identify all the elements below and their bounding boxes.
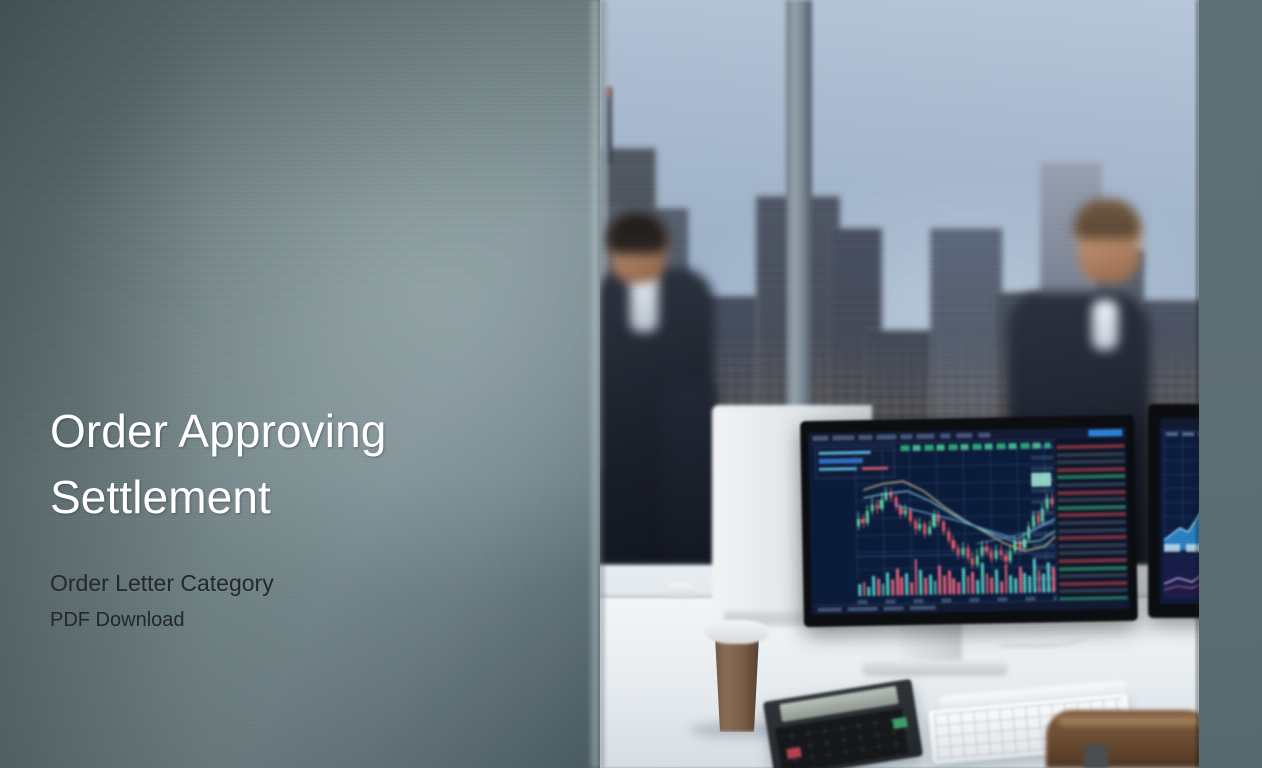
order-book-row: [1058, 535, 1126, 540]
volume-bar: [1019, 567, 1022, 593]
slide-subtitle: Order Letter Category: [50, 568, 550, 598]
computer-mouse: [664, 583, 698, 598]
volume-bar: [986, 574, 989, 594]
volume-bar: [967, 576, 970, 594]
volume-bar: [863, 582, 866, 596]
volume-bar: [953, 579, 956, 595]
volume-bar: [900, 577, 903, 595]
order-book-row: [1058, 497, 1126, 502]
office-chair-highlight: [1058, 716, 1204, 726]
volume-bar: [896, 569, 899, 596]
order-book-row: [1058, 520, 1126, 525]
volume-bar: [872, 576, 875, 596]
volume-bar: [919, 570, 922, 595]
order-book-row: [1057, 467, 1125, 472]
order-book-row: [1058, 512, 1126, 517]
volume-bar: [868, 587, 871, 596]
volume-bar: [891, 580, 894, 596]
volume-bar: [976, 580, 979, 594]
slide-canvas: Order Approving Settlement Order Letter …: [0, 0, 1262, 768]
volume-bar: [882, 583, 885, 595]
order-book-row: [1057, 452, 1125, 457]
order-book-row: [1059, 588, 1127, 593]
volume-bar: [971, 572, 974, 594]
order-book-row: [1059, 550, 1127, 555]
volume-bar: [1009, 575, 1012, 593]
volume-bar: [1004, 564, 1007, 593]
volume-bar: [981, 562, 984, 593]
volume-bar: [886, 573, 889, 596]
order-book-row: [1057, 444, 1125, 449]
volume-bar: [957, 582, 960, 594]
volume-bar: [934, 580, 937, 594]
volume-bar: [914, 559, 918, 595]
volume-bar: [924, 578, 927, 595]
coffee-cup-lid: [705, 620, 769, 644]
volume-bar: [1014, 578, 1017, 593]
monitor-stand-neck: [900, 618, 962, 666]
left-wall-edge-highlight: [588, 0, 604, 768]
monitor-stand-base: [862, 660, 1008, 676]
order-book-row: [1058, 505, 1126, 510]
order-book-row: [1059, 573, 1127, 578]
order-book-row: [1057, 490, 1125, 495]
terminal-accent-button: [1088, 429, 1122, 437]
volume-bar: [877, 579, 880, 596]
order-book-row: [1058, 528, 1126, 533]
current-price-highlight: [1031, 472, 1051, 486]
businessman-right-shirt: [1092, 300, 1118, 350]
volume-bar: [938, 565, 941, 595]
volume-bar: [1023, 573, 1026, 593]
volume-bar: [910, 582, 913, 595]
volume-bar: [1000, 581, 1003, 593]
volume-bar: [1028, 576, 1031, 593]
volume-bar: [929, 574, 932, 594]
volume-bar: [858, 584, 861, 596]
background-photo: [0, 0, 1262, 768]
order-book-row: [1057, 459, 1125, 464]
volume-bar: [962, 568, 965, 594]
order-book-row: [1057, 482, 1125, 487]
slide-text-block: Order Approving Settlement Order Letter …: [50, 398, 550, 633]
volume-bar: [995, 569, 998, 593]
trading-monitor-screen: [808, 427, 1129, 615]
order-book-panel: [1053, 438, 1129, 610]
right-wall-panel: [1199, 0, 1262, 768]
order-book-row: [1059, 566, 1127, 571]
order-book-row: [1059, 558, 1127, 563]
order-book-row: [1059, 581, 1127, 586]
page-title: Order Approving Settlement: [50, 398, 550, 530]
pdf-download-label[interactable]: PDF Download: [50, 607, 550, 633]
volume-bar: [990, 577, 993, 593]
order-book-row: [1057, 474, 1125, 479]
window-mullion: [786, 0, 812, 470]
left-wall-panel: [0, 0, 600, 768]
volume-bar: [905, 574, 908, 596]
price-ladder: [1031, 444, 1056, 596]
businessman-left-arm: [660, 380, 716, 580]
office-chair-post: [1084, 744, 1108, 768]
volume-bar: [943, 575, 946, 594]
volume-bar: [948, 571, 951, 595]
coffee-cup-body: [712, 636, 762, 732]
order-book-row: [1058, 543, 1126, 548]
